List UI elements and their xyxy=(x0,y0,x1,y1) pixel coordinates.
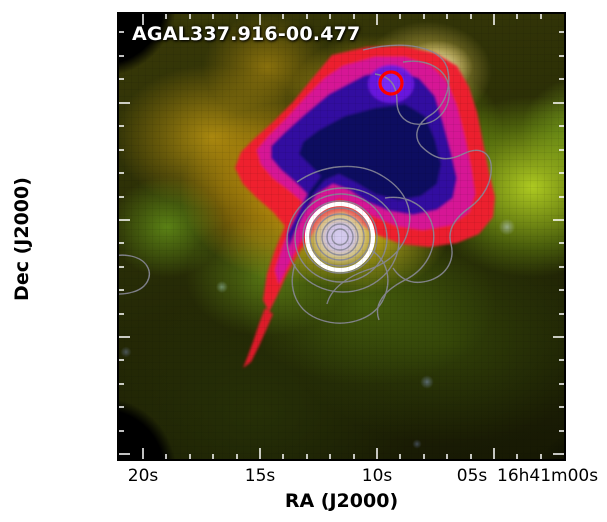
source-title: AGAL337.916-00.477 xyxy=(132,23,360,45)
x-tick-label-1: 15s xyxy=(239,466,281,486)
sky-image-plot[interactable] xyxy=(117,12,566,461)
y-axis-title: Dec (J2000) xyxy=(11,149,33,329)
tick-marks xyxy=(117,12,566,461)
x-tick-label-2: 10s xyxy=(356,466,398,486)
x-axis-title: RA (J2000) xyxy=(117,490,566,512)
x-tick-label-3: 05s xyxy=(451,466,493,486)
figure-canvas: AGAL337.916-00.477 -47°07'00" 08'00" 09'… xyxy=(0,0,607,522)
x-tick-label-4: 16h41m00s xyxy=(497,466,607,486)
x-tick-label-0: 20s xyxy=(122,466,164,486)
